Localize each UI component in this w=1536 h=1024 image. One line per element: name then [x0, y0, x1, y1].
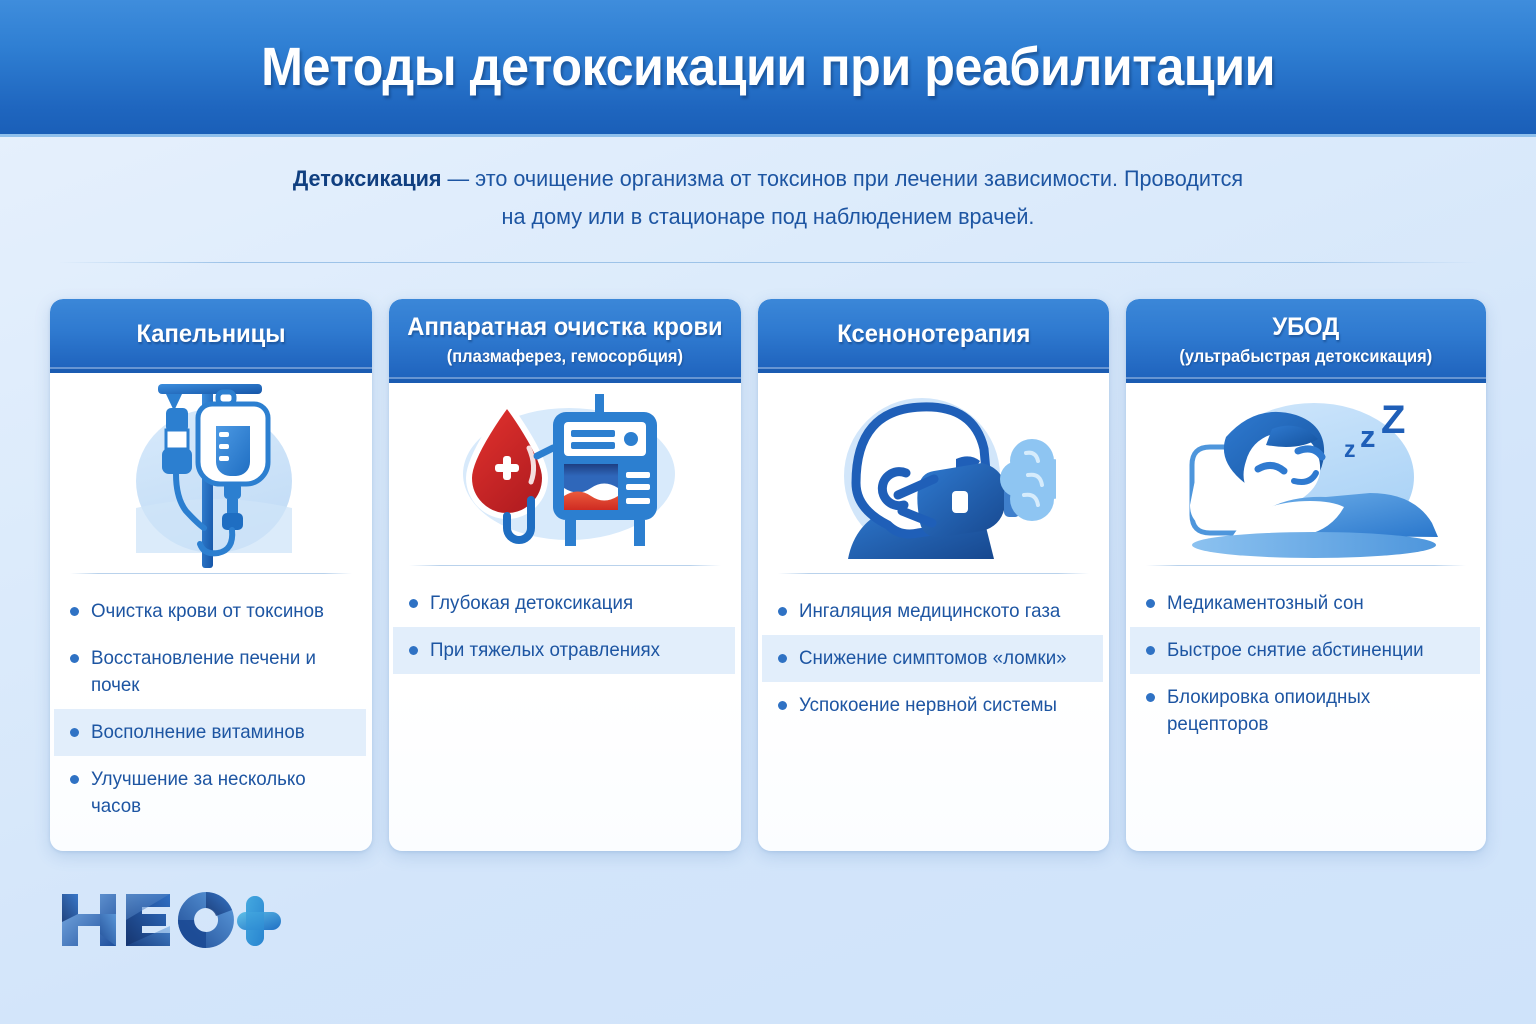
method-card-xenon-therapy[interactable]: Ксенонотерапия: [758, 299, 1110, 851]
list-item-highlighted: При тяжелых отравлениях: [393, 627, 735, 674]
bullet-text: Улучшение за несколько часов: [91, 766, 344, 820]
page-header: Методы детоксикации при реабилитации: [0, 0, 1536, 137]
card-separator: [778, 573, 1090, 574]
card-title: УБОД: [1145, 311, 1468, 344]
bullet-dot-icon: [778, 654, 787, 663]
card-subtitle: (плазмаферез, гемосорбция): [409, 344, 721, 368]
list-item: Глубокая детоксикация: [393, 580, 735, 627]
sleeping-person-icon: z z Z: [1126, 383, 1486, 565]
card-header-drips: Капельницы: [50, 299, 372, 373]
method-card-ubod[interactable]: УБОД (ультрабыстрая детоксикация): [1126, 299, 1486, 851]
list-item-highlighted: Восполнение витаминов: [54, 709, 366, 756]
bullet-dot-icon: [778, 607, 787, 616]
card-title: Капельницы: [68, 318, 355, 351]
bullet-text: Восполнение витаминов: [91, 719, 305, 746]
card-bullet-list: Очистка крови от токсинов Восстановление…: [50, 588, 372, 830]
card-separator: [70, 573, 352, 574]
card-separator: [409, 565, 721, 566]
iv-drip-icon: [50, 373, 372, 573]
bullet-dot-icon: [409, 646, 418, 655]
bullet-dot-icon: [1146, 599, 1155, 608]
list-item: Улучшение за несколько часов: [54, 756, 366, 830]
bullet-text: Блокировка опиоидных рецепторов: [1167, 684, 1456, 738]
method-card-drips[interactable]: Капельницы: [50, 299, 372, 851]
bullet-dot-icon: [409, 599, 418, 608]
list-item: Блокировка опиоидных рецепторов: [1130, 674, 1480, 748]
intro-line-2: на дому или в стационаре под наблюдением…: [502, 204, 1035, 229]
bullet-dot-icon: [70, 654, 79, 663]
bullet-dot-icon: [70, 607, 79, 616]
bullet-text: Глубокая детоксикация: [430, 590, 633, 617]
card-separator: [1146, 565, 1466, 566]
bullet-text: При тяжелых отравлениях: [430, 637, 660, 664]
card-subtitle: (ультрабыстрая детоксикация): [1147, 344, 1466, 368]
intro-paragraph: Детоксикация — это очищение организма от…: [213, 160, 1323, 236]
svg-text:z: z: [1344, 436, 1356, 462]
bullet-text: Восстановление печени и почек: [91, 645, 344, 699]
intro-block: Детоксикация — это очищение организма от…: [0, 160, 1536, 236]
card-bullet-list: Медикаментозный сон Быстрое снятие абсти…: [1126, 580, 1486, 748]
bullet-dot-icon: [70, 728, 79, 737]
bullet-dot-icon: [1146, 693, 1155, 702]
svg-text:z: z: [1360, 419, 1376, 454]
brand-logo[interactable]: НЕО+: [58, 890, 288, 952]
list-item: Медикаментозный сон: [1130, 580, 1480, 627]
bullet-text: Быстрое снятие абстиненции: [1167, 637, 1424, 664]
list-item: Успокоение нервной системы: [762, 682, 1104, 729]
intro-lead-term: Детоксикация: [293, 166, 442, 191]
bullet-text: Ингаляция медицинското газа: [799, 598, 1060, 625]
card-bullet-list: Глубокая детоксикация При тяжелых отравл…: [389, 580, 741, 674]
bullet-dot-icon: [778, 701, 787, 710]
intro-line-1: — это очищение организма от токсинов при…: [442, 166, 1244, 191]
card-header-xenon: Ксенонотерапия: [758, 299, 1110, 373]
card-bullet-list: Ингаляция медицинското газа Снижение сим…: [758, 588, 1110, 729]
blood-purification-machine-icon: [389, 383, 741, 565]
bullet-text: Снижение симптомов «ломки»: [799, 645, 1067, 672]
card-title: Аппаратная очистка крови: [407, 311, 722, 344]
bullet-text: Очистка крови от токсинов: [91, 598, 324, 625]
bullet-dot-icon: [1146, 646, 1155, 655]
card-title: Ксенонотерапия: [776, 318, 1091, 351]
list-item-highlighted: Быстрое снятие абстиненции: [1130, 627, 1480, 674]
bullet-dot-icon: [70, 775, 79, 784]
list-item-highlighted: Снижение симптомов «ломки»: [762, 635, 1104, 682]
card-header-hardware: Аппаратная очистка крови (плазмаферез, г…: [389, 299, 741, 383]
card-header-ubod: УБОД (ультрабыстрая детоксикация): [1126, 299, 1486, 383]
svg-text:Z: Z: [1381, 398, 1405, 442]
page-title: Методы детоксикации при реабилитации: [261, 36, 1275, 98]
list-item: Очистка крови от токсинов: [54, 588, 366, 635]
inhalation-mask-head-icon: [758, 373, 1110, 573]
list-item: Ингаляция медицинското газа: [762, 588, 1104, 635]
bullet-text: Успокоение нервной системы: [799, 692, 1057, 719]
method-card-hardware-blood-purification[interactable]: Аппаратная очистка крови (плазмаферез, г…: [389, 299, 741, 851]
bullet-text: Медикаментозный сон: [1167, 590, 1364, 617]
infographic-page: Методы детоксикации при реабилитации Дет…: [0, 0, 1536, 1024]
intro-divider: [58, 262, 1478, 263]
list-item: Восстановление печени и почек: [54, 635, 366, 709]
method-cards-row: Капельницы: [50, 299, 1486, 851]
